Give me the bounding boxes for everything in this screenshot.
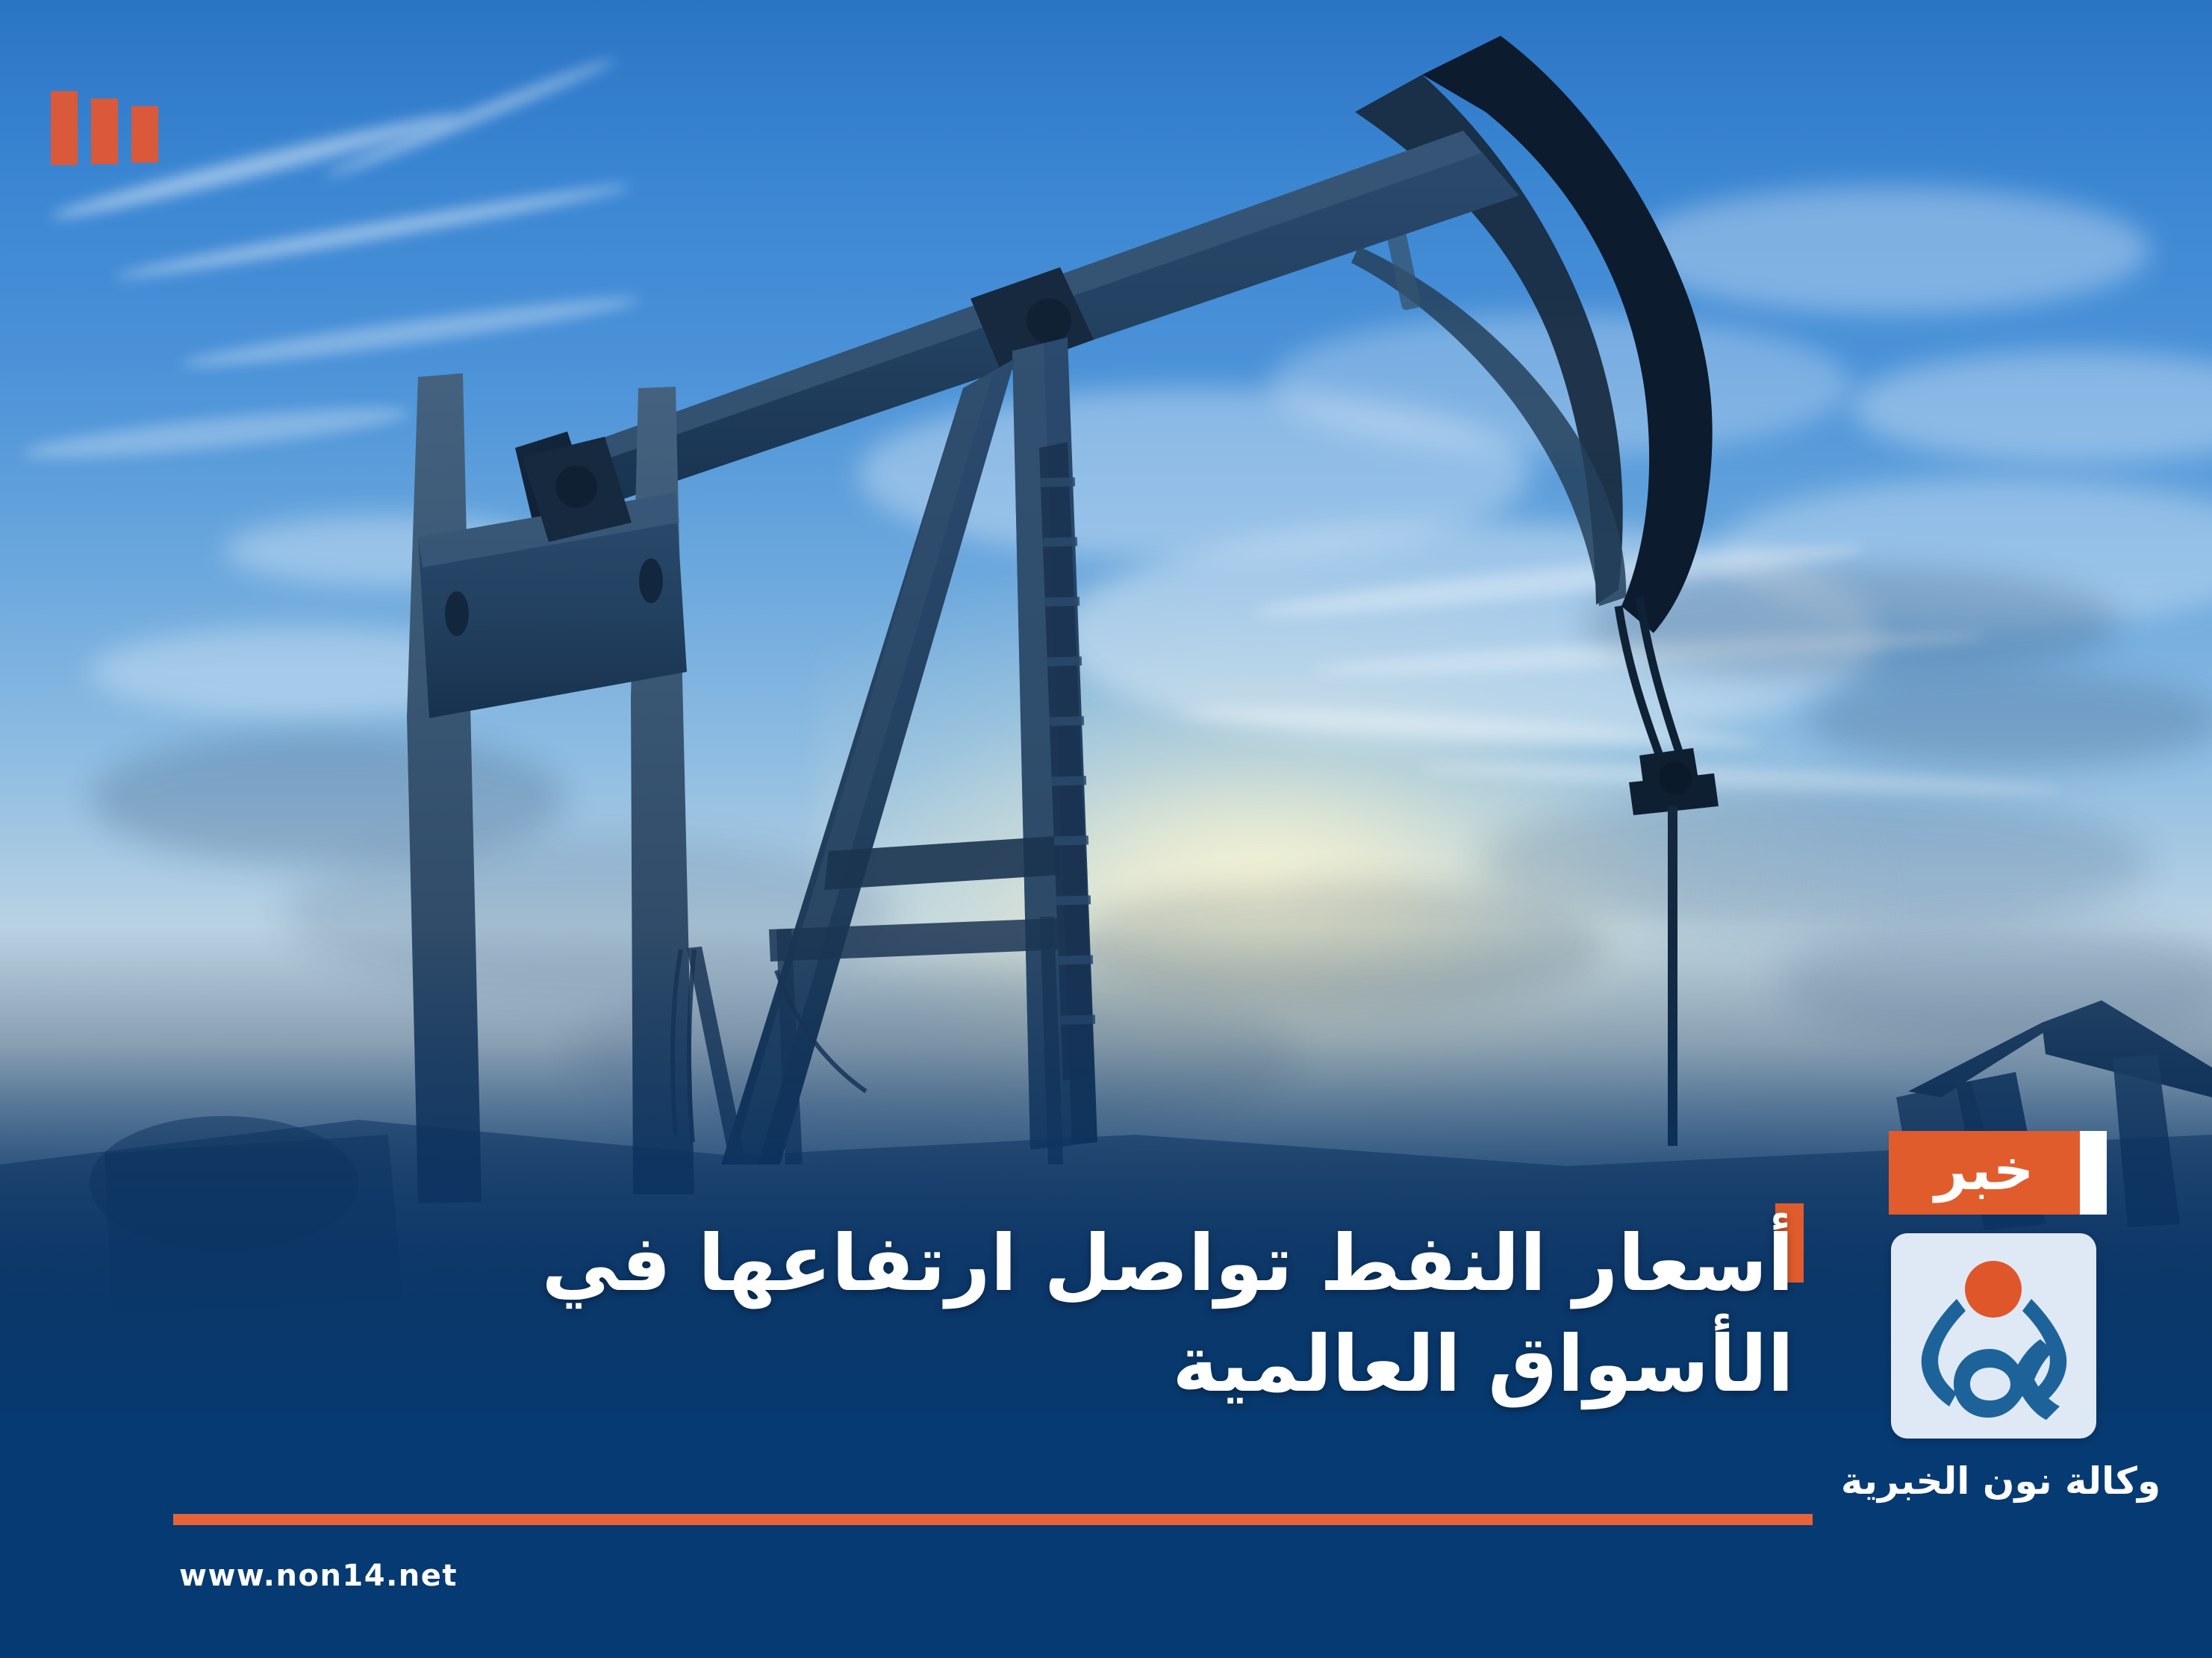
agency-logo — [1891, 1233, 2096, 1439]
site-url: www.non14.net — [179, 1559, 458, 1593]
brand-bar-1 — [51, 91, 78, 165]
news-badge-tick — [2080, 1131, 2107, 1215]
brand-bar-3 — [131, 106, 158, 163]
agency-name: وكالة نون الخبرية — [1807, 1459, 2195, 1503]
news-card: خبر وكالة نون الخبرية أسعار النفط تواصل … — [0, 0, 2212, 1658]
headline: أسعار النفط تواصل ارتفاعها في الأسواق ال… — [390, 1213, 1794, 1415]
three-bars-mark — [51, 91, 158, 165]
brand-bar-2 — [91, 99, 118, 164]
footer-rule — [173, 1514, 1813, 1525]
news-badge: خبر — [1889, 1131, 2107, 1215]
bottom-overlay-solid — [0, 1412, 2212, 1658]
news-badge-label: خبر — [1889, 1131, 2080, 1215]
logo-head-circle — [1965, 1261, 2022, 1318]
logo-loop — [1954, 1339, 2060, 1420]
